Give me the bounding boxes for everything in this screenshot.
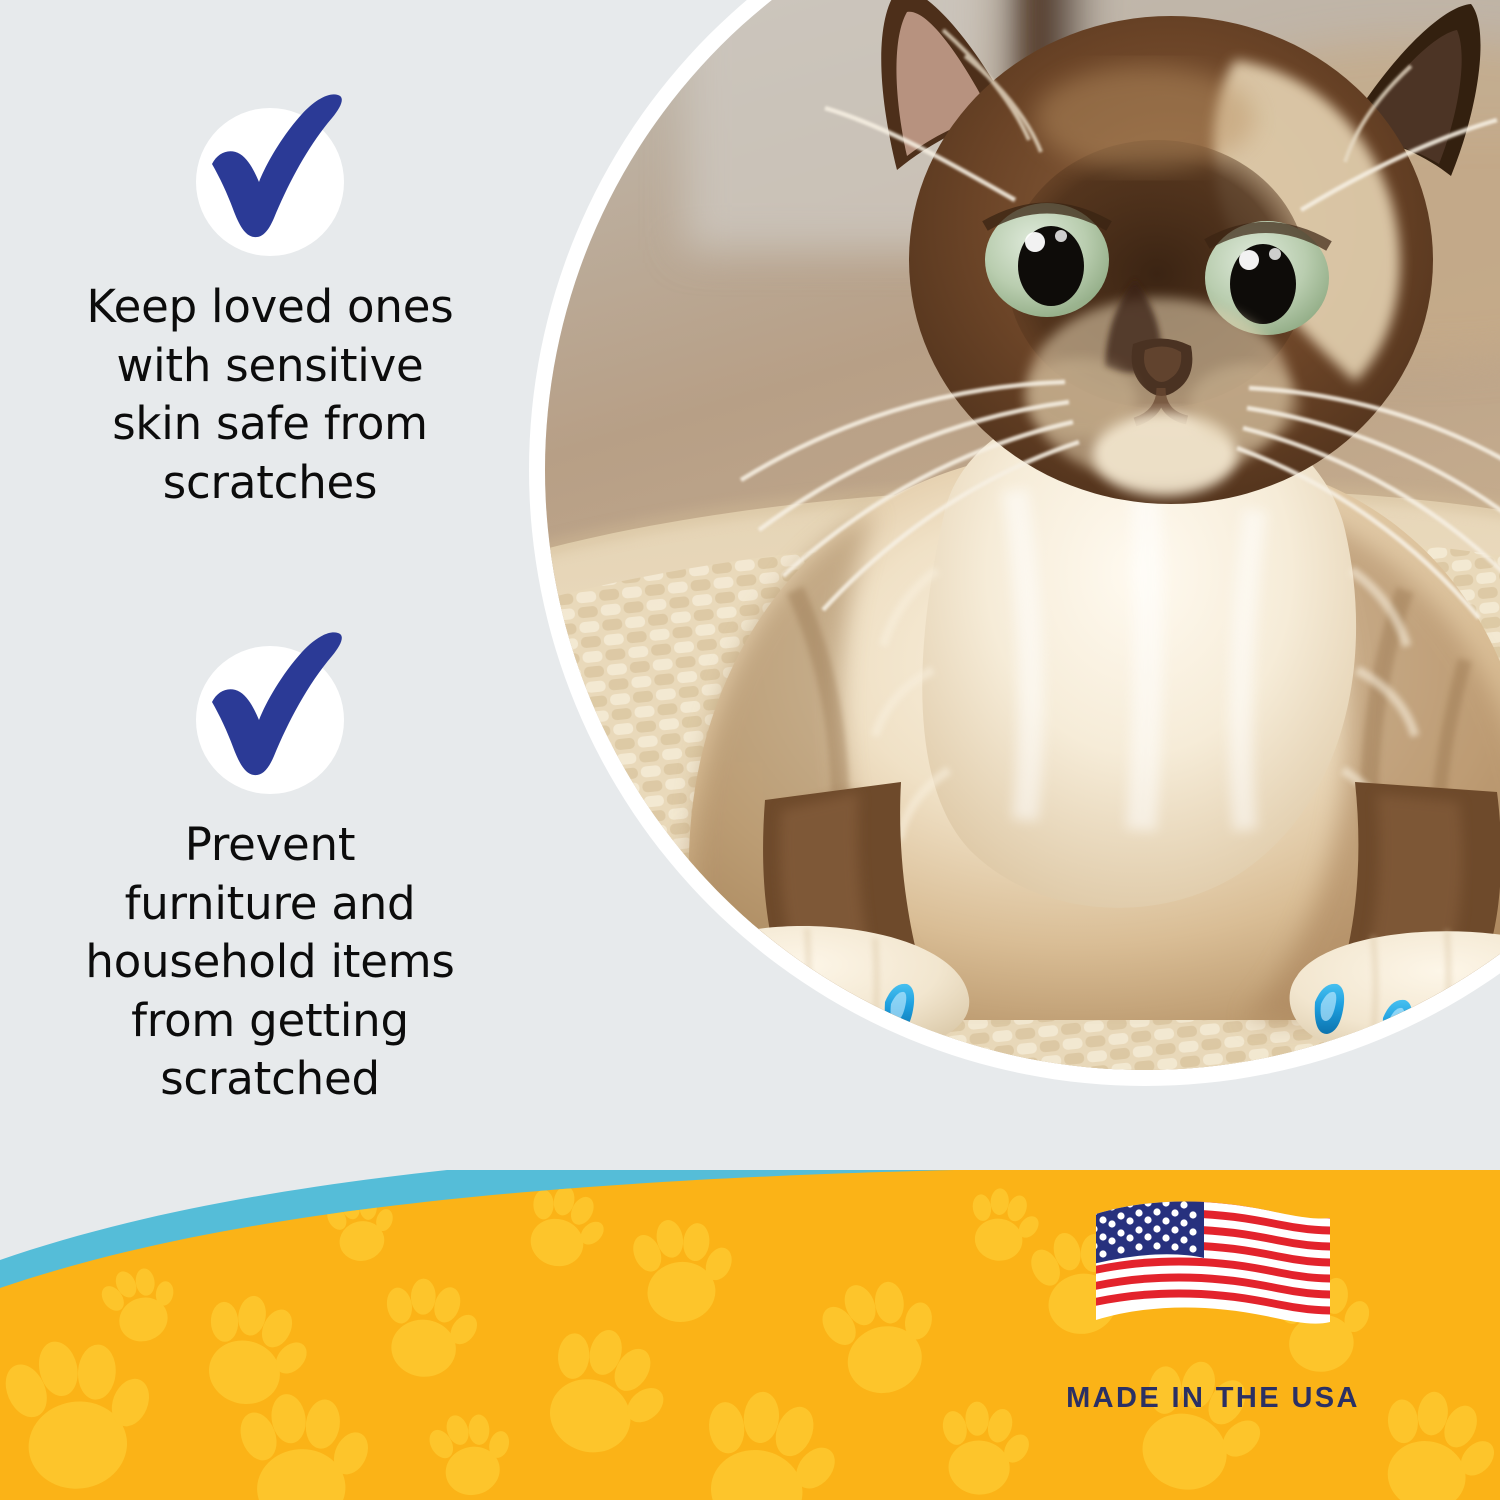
feature-item: Prevent furniture and household items fr… xyxy=(0,638,540,1109)
feature-item: Keep loved ones with sensitive skin safe… xyxy=(0,100,540,512)
feature-text: Keep loved ones with sensitive skin safe… xyxy=(0,278,540,512)
feature-list: Keep loved ones with sensitive skin safe… xyxy=(0,0,540,1200)
usa-flag-icon xyxy=(1088,1196,1338,1356)
checkmark-icon xyxy=(190,100,350,260)
checkmark-icon xyxy=(190,638,350,798)
cat-with-blue-nail-caps-photo xyxy=(545,0,1500,1070)
product-feature-graphic: Keep loved ones with sensitive skin safe… xyxy=(0,0,1500,1500)
made-in-usa-label: MADE IN THE USA xyxy=(1058,1382,1368,1415)
feature-text: Prevent furniture and household items fr… xyxy=(0,816,540,1109)
made-in-usa-badge: MADE IN THE USA xyxy=(1058,1196,1368,1415)
